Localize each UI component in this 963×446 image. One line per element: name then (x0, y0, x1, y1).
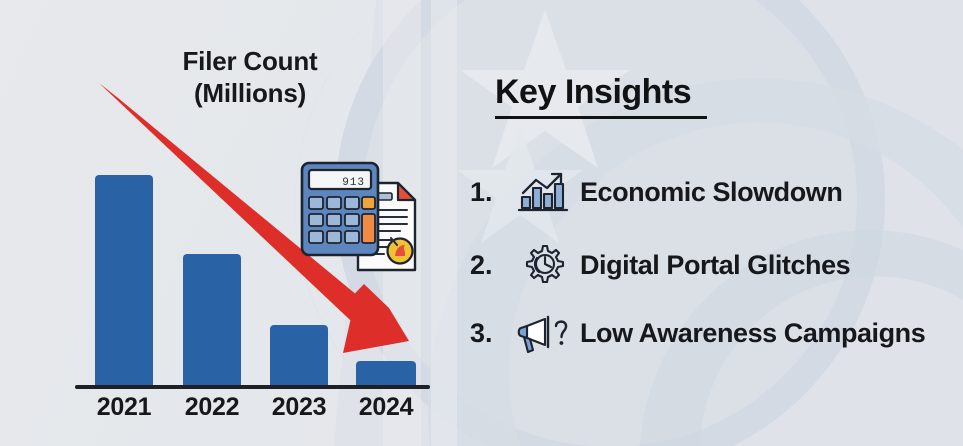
insights-heading: Key Insights (495, 73, 691, 112)
x-tick-2021: 2021 (79, 393, 169, 422)
bar-2021 (95, 175, 153, 386)
bar-2024 (356, 361, 416, 386)
insight-number: 2. (468, 250, 512, 281)
bar-chart-up-arrow-icon (512, 169, 574, 215)
bar-2022 (183, 254, 241, 386)
chart-panel: Filer Count (Millions) 2021 2022 2023 20… (0, 0, 460, 446)
bar-2023 (270, 325, 328, 386)
svg-text:913: 913 (342, 177, 365, 189)
x-tick-2022: 2022 (167, 393, 257, 422)
x-tick-2024: 2024 (341, 393, 431, 422)
insight-label: Economic Slowdown (574, 177, 842, 208)
insight-item-economic-slowdown[interactable]: 1. Economic Slowdown (468, 168, 842, 216)
insights-panel: Key Insights 1. Economic Slowdown (460, 0, 963, 446)
calculator-tax-document-icon: 913 (296, 155, 421, 285)
x-tick-2023: 2023 (254, 393, 344, 422)
insight-item-low-awareness-campaigns[interactable]: 3. Low Awareness Campaigns (468, 309, 925, 357)
insight-number: 3. (468, 318, 512, 349)
x-axis-line (75, 385, 430, 389)
insights-heading-underline (495, 116, 707, 119)
gear-icon (512, 242, 574, 288)
megaphone-question-icon (512, 310, 574, 356)
insight-label: Low Awareness Campaigns (574, 318, 925, 349)
insight-number: 1. (468, 177, 512, 208)
insight-item-digital-portal-glitches[interactable]: 2. Digital Portal Glitches (468, 241, 850, 289)
insight-label: Digital Portal Glitches (574, 250, 850, 281)
infographic-slide: Filer Count (Millions) 2021 2022 2023 20… (0, 0, 963, 446)
